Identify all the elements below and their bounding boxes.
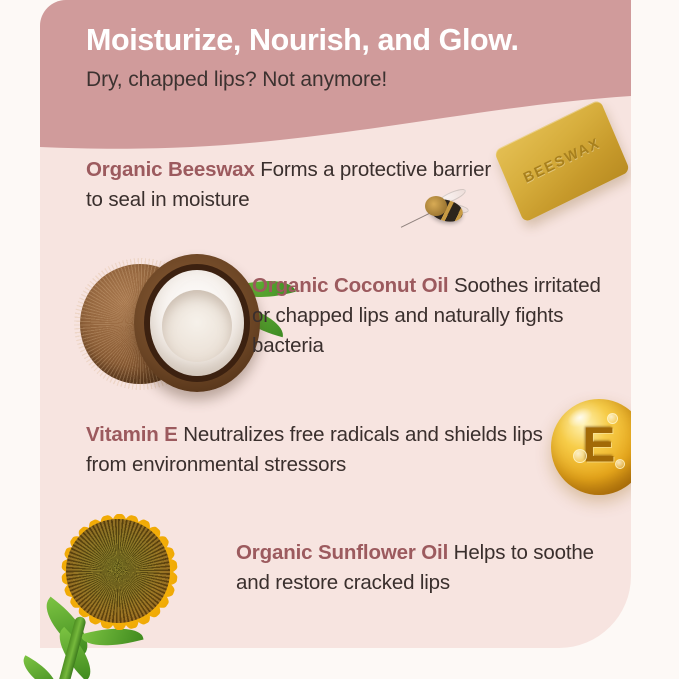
- benefit-item-sunflower: Organic Sunflower Oil Helps to soothe an…: [236, 538, 606, 598]
- beeswax-slab: BEESWAX: [494, 99, 631, 223]
- sunflower-disc: [66, 519, 170, 623]
- page-title: Moisturize, Nourish, and Glow.: [86, 22, 631, 59]
- vitamin-e-capsule-image: E: [545, 393, 631, 501]
- bee-image: [417, 188, 477, 238]
- beeswax-bar-image: BEESWAX: [495, 112, 631, 224]
- sunflower-leaf-4: [16, 655, 63, 679]
- coconut-flesh-cavity: [162, 290, 232, 362]
- beeswax-label: BEESWAX: [521, 135, 603, 186]
- capsule-bubble-1: [607, 413, 618, 424]
- ingredient-name-sunflower: Organic Sunflower Oil: [236, 541, 448, 564]
- bee-thorax-fuzz: [425, 196, 447, 216]
- benefit-item-coconut: Organic Coconut Oil Soothes irritated or…: [252, 271, 612, 361]
- ingredient-name-coconut: Organic Coconut Oil: [252, 274, 448, 297]
- infographic-canvas: Moisturize, Nourish, and Glow. Dry, chap…: [0, 0, 679, 679]
- capsule-bubble-3: [615, 459, 625, 469]
- sunflower-image: [18, 487, 218, 679]
- benefit-item-vitamin-e: Vitamin E Neutralizes free radicals and …: [86, 420, 556, 480]
- capsule-bubble-2: [573, 449, 587, 463]
- page-subtitle: Dry, chapped lips? Not anymore!: [86, 68, 631, 92]
- ingredient-name-vitamin-e: Vitamin E: [86, 423, 178, 446]
- ingredient-name-beeswax: Organic Beeswax: [86, 158, 255, 181]
